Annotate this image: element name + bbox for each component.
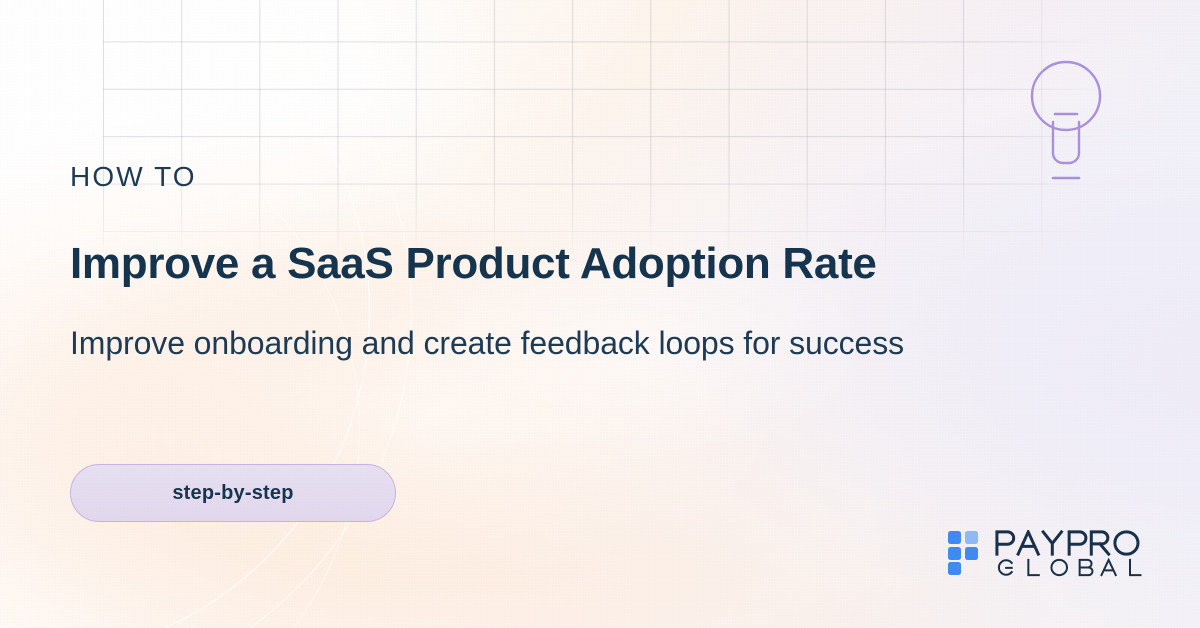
page-subtitle: Improve onboarding and create feedback l… [70,324,904,362]
step-by-step-badge[interactable]: step-by-step [70,464,396,522]
paypro-word-secondary [993,558,1153,577]
page-title: Improve a SaaS Product Adoption Rate [70,240,877,288]
banner-canvas: HOW TO Improve a SaaS Product Adoption R… [0,0,1200,628]
paypro-global-logo[interactable] [948,524,1153,582]
step-by-step-badge-label: step-by-step [172,482,293,505]
paypro-wordmark [993,530,1153,577]
lightbulb-icon [1026,52,1106,192]
eyebrow-label: HOW TO [70,163,197,191]
paypro-word-primary [993,530,1153,556]
paypro-mark-icon [948,531,982,575]
